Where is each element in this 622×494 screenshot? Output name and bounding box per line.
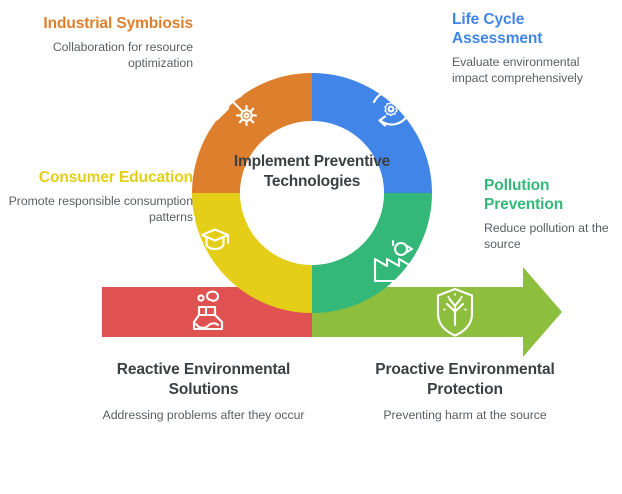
label-industrial-symbiosis[interactable]: Industrial Symbiosis Collaboration for r… [18,14,193,71]
life-cycle-assessment-title: Life Cycle Assessment [452,10,612,48]
donut-center-label: Implement Preventive Technologies [232,152,392,191]
consumer-education-description: Promote responsible consumption patterns [8,194,193,225]
reactive-description: Addressing problems after they occur [96,408,311,424]
donut-center-hole [240,121,384,265]
label-life-cycle-assessment[interactable]: Life Cycle Assessment Evaluate environme… [452,10,612,86]
pollution-prevention-description: Reduce pollution at the source [484,221,620,252]
consumer-education-title: Consumer Education [8,168,193,187]
label-proactive-environmental-protection[interactable]: Proactive Environmental Protection Preve… [350,360,580,424]
proactive-description: Preventing harm at the source [350,408,580,424]
reactive-title: Reactive Environmental Solutions [96,360,311,399]
label-pollution-prevention[interactable]: Pollution Prevention Reduce pollution at… [484,176,620,252]
industrial-symbiosis-title: Industrial Symbiosis [18,14,193,33]
life-cycle-assessment-description: Evaluate environmental impact comprehens… [452,55,612,86]
label-consumer-education[interactable]: Consumer Education Promote responsible c… [8,168,193,225]
proactive-title: Proactive Environmental Protection [350,360,580,399]
label-reactive-environmental-solutions[interactable]: Reactive Environmental Solutions Address… [96,360,311,424]
infographic-canvas: Implement Preventive Technologies Indust… [0,0,622,494]
industrial-symbiosis-description: Collaboration for resource optimization [18,40,193,71]
pollution-prevention-title: Pollution Prevention [484,176,620,214]
